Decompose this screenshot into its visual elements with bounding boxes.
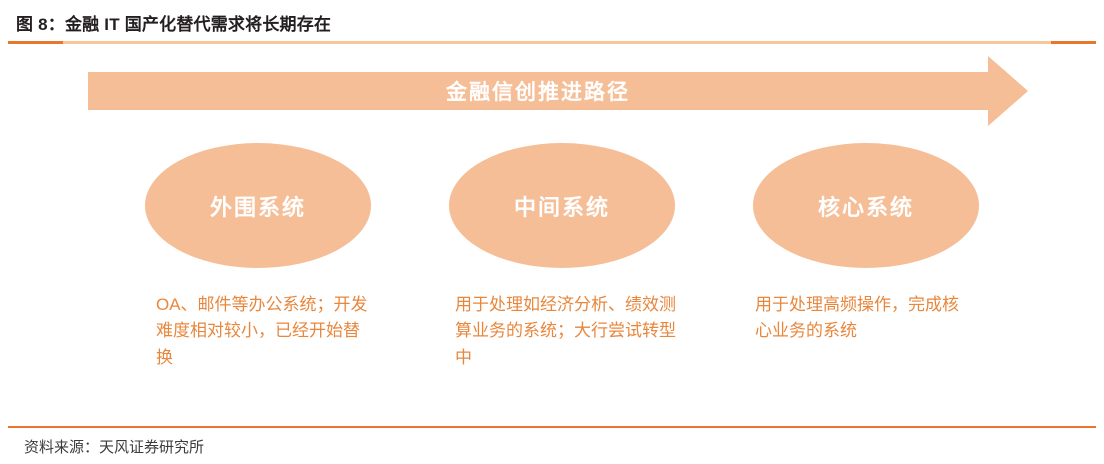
header-divider [8, 41, 1096, 44]
stage-description: 用于处理高频操作，完成核心业务的系统 [755, 292, 969, 345]
header-divider-right-accent [1051, 41, 1096, 44]
source-note: 资料来源：天风证券研究所 [24, 436, 204, 457]
stage-ellipse-peripheral: 外围系统 [145, 143, 371, 268]
header-divider-left-accent [8, 41, 63, 44]
progress-arrow-banner: 金融信创推进路径 [88, 56, 1028, 126]
stage-description: 用于处理如经济分析、绩效测算业务的系统；大行尝试转型中 [455, 292, 681, 371]
stage-column-peripheral: 外围系统 OA、邮件等办公系统；开发难度相对较小，已经开始替换 [108, 143, 408, 371]
footer-divider [8, 426, 1096, 428]
page-title: 图 8：金融 IT 国产化替代需求将长期存在 [16, 10, 331, 35]
stage-ellipse-label: 核心系统 [818, 190, 914, 222]
stage-description: OA、邮件等办公系统；开发难度相对较小，已经开始替换 [156, 292, 368, 371]
stage-column-core: 核心系统 用于处理高频操作，完成核心业务的系统 [716, 143, 1016, 345]
stage-column-middle: 中间系统 用于处理如经济分析、绩效测算业务的系统；大行尝试转型中 [412, 143, 712, 371]
stage-ellipse-core: 核心系统 [753, 143, 979, 268]
arrow-shape-icon [88, 56, 1028, 126]
stage-ellipse-label: 中间系统 [514, 190, 610, 222]
stage-ellipse-middle: 中间系统 [449, 143, 675, 268]
stage-ellipse-label: 外围系统 [210, 190, 306, 222]
